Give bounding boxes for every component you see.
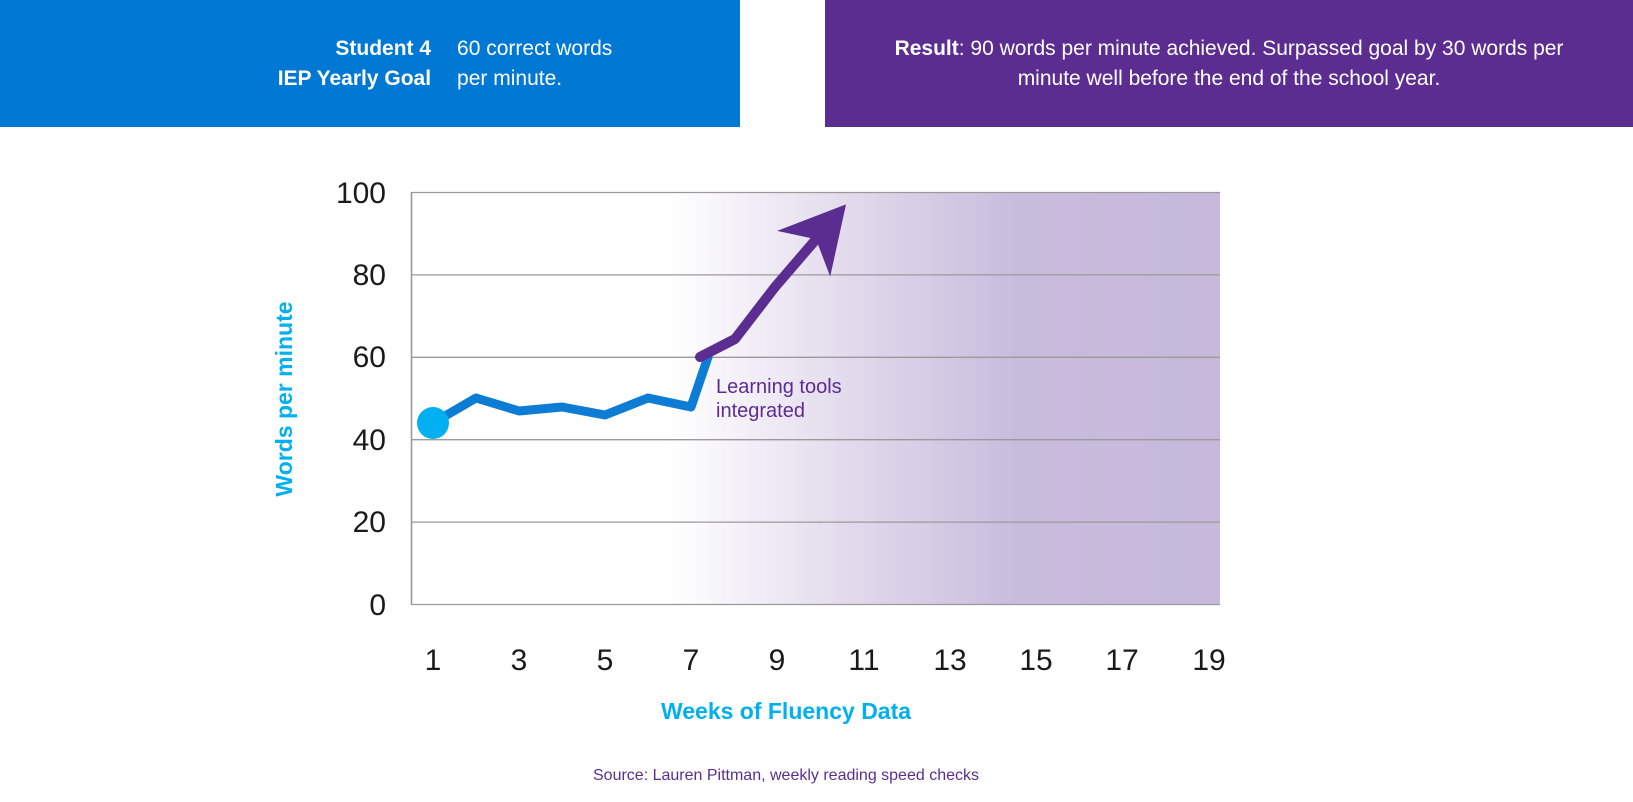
y-tick-label: 100: [336, 177, 386, 210]
result-banner-body: : 90 words per minute achieved. Surpasse…: [959, 37, 1564, 90]
annotation-line-1: Learning tools: [716, 376, 842, 398]
x-tick-label: 5: [597, 644, 614, 677]
goal-banner-value: 60 correct words per minute.: [457, 34, 612, 94]
y-axis-title: Words per minute: [271, 301, 297, 496]
goal-banner-label: Student 4 IEP Yearly Goal: [278, 34, 431, 94]
chart-source: Source: Lauren Pittman, weekly reading s…: [593, 767, 979, 784]
goal-banner-content: Student 4 IEP Yearly Goal 60 correct wor…: [278, 34, 613, 94]
x-tick-label: 19: [1192, 644, 1225, 677]
y-tick-label: 0: [369, 589, 386, 622]
result-banner-strong: Result: [895, 37, 959, 60]
observed-start-marker: [417, 407, 449, 439]
x-tick-label: 9: [769, 644, 786, 677]
y-tick-labels: 100 80 60 40 20 0: [336, 177, 386, 622]
x-tick-label: 11: [848, 644, 879, 677]
y-tick-label: 40: [353, 424, 386, 457]
y-tick-label: 80: [353, 259, 386, 292]
y-tick-label: 20: [353, 506, 386, 539]
y-tick-label: 60: [353, 341, 386, 374]
x-tick-labels: 1 3 5 7 9 11 13 15 17 19: [425, 644, 1226, 677]
x-axis-title: Weeks of Fluency Data: [661, 698, 911, 724]
x-tick-label: 7: [683, 644, 700, 677]
x-tick-label: 15: [1019, 644, 1052, 677]
annotation-line-2: integrated: [716, 400, 805, 422]
result-banner-text: Result: 90 words per minute achieved. Su…: [865, 34, 1593, 94]
fluency-chart: 100 80 60 40 20 0 Words per minute 1 3 5…: [0, 127, 1633, 802]
goal-banner: Student 4 IEP Yearly Goal 60 correct wor…: [0, 0, 740, 127]
x-tick-label: 3: [511, 644, 528, 677]
x-tick-label: 17: [1105, 644, 1138, 677]
result-banner: Result: 90 words per minute achieved. Su…: [825, 0, 1633, 127]
plot-area-background: [411, 192, 1220, 604]
chart-canvas: 100 80 60 40 20 0 Words per minute 1 3 5…: [0, 127, 1633, 802]
x-tick-label: 1: [425, 644, 442, 677]
x-tick-label: 13: [933, 644, 966, 677]
